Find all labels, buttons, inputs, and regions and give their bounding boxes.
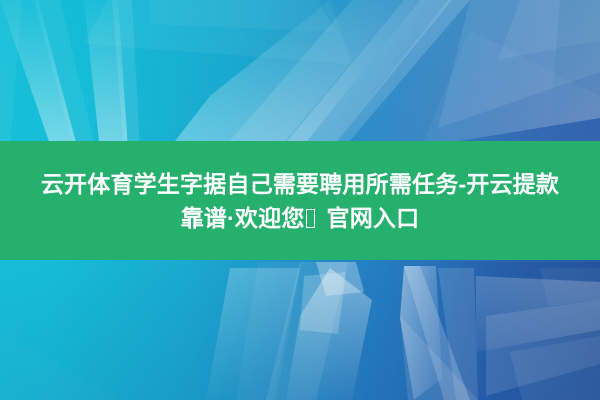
headline-line-2-suffix: 官网入口 bbox=[327, 205, 420, 231]
headline-line-2-prefix: 靠谱·欢迎您 bbox=[181, 205, 305, 231]
missing-glyph-box-icon bbox=[306, 209, 315, 228]
headline-line-1: 云开体育学生字据自己需要聘用所需任务-开云提款 bbox=[41, 167, 559, 201]
headline-line-2: 靠谱·欢迎您官网入口 bbox=[181, 201, 420, 235]
promo-banner: 云开体育学生字据自己需要聘用所需任务-开云提款 靠谱·欢迎您官网入口 bbox=[0, 0, 600, 400]
headline-band: 云开体育学生字据自己需要聘用所需任务-开云提款 靠谱·欢迎您官网入口 bbox=[0, 141, 600, 260]
